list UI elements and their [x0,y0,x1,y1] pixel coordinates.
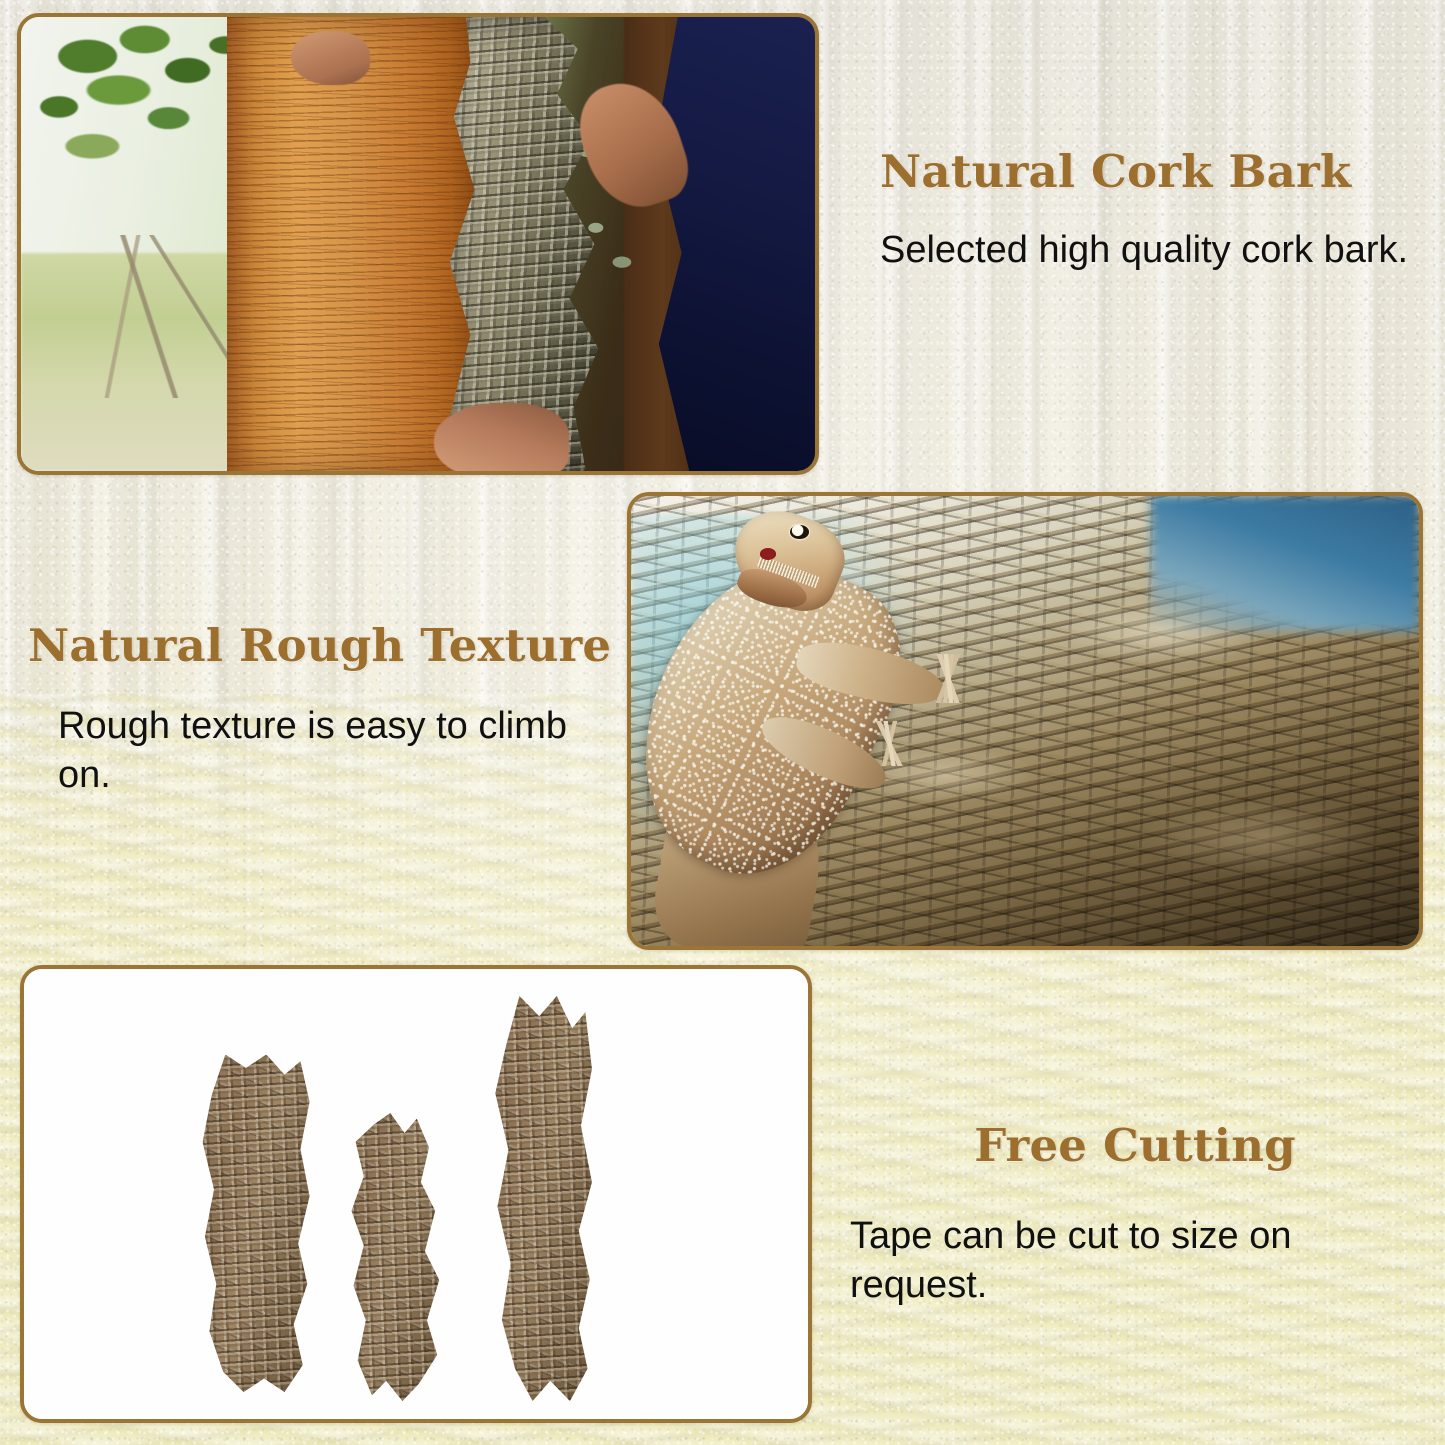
feature-heading: Natural Cork Bark [880,148,1420,196]
product-infographic-poster: Natural Cork Bark Selected high quality … [0,0,1445,1445]
feature-heading: Free Cutting [850,1122,1420,1170]
bark-piece [200,1055,314,1393]
feature-text-natural-rough-texture: Natural Rough Texture Rough texture is e… [28,622,628,800]
lizard-front-foot [915,654,986,704]
photo-bearded-dragon [631,496,1419,946]
blue-background-patch [1151,496,1419,631]
stripped-cork-oak-trunk [227,17,481,471]
feature-heading: Natural Rough Texture [28,622,628,670]
feature-body: Selected high quality cork bark. [880,226,1420,275]
photo-card-bark-pieces [20,965,812,1423]
feature-text-natural-cork-bark: Natural Cork Bark Selected high quality … [880,148,1420,275]
photo-card-bearded-dragon [627,492,1423,950]
photo-card-cork-harvest [17,13,819,475]
photo-bark-pieces [24,969,808,1419]
worker-lower-hand [434,403,569,471]
feature-body: Rough texture is easy to climb on. [58,702,628,801]
lizard-hind-foot [860,721,923,766]
worker-upper-hand [291,31,370,85]
lizard-ear [760,548,776,560]
photo-cork-harvest [21,17,815,471]
feature-text-free-cutting: Free Cutting Tape can be cut to size on … [850,1122,1420,1310]
feature-body: Tape can be cut to size on request. [850,1212,1420,1311]
